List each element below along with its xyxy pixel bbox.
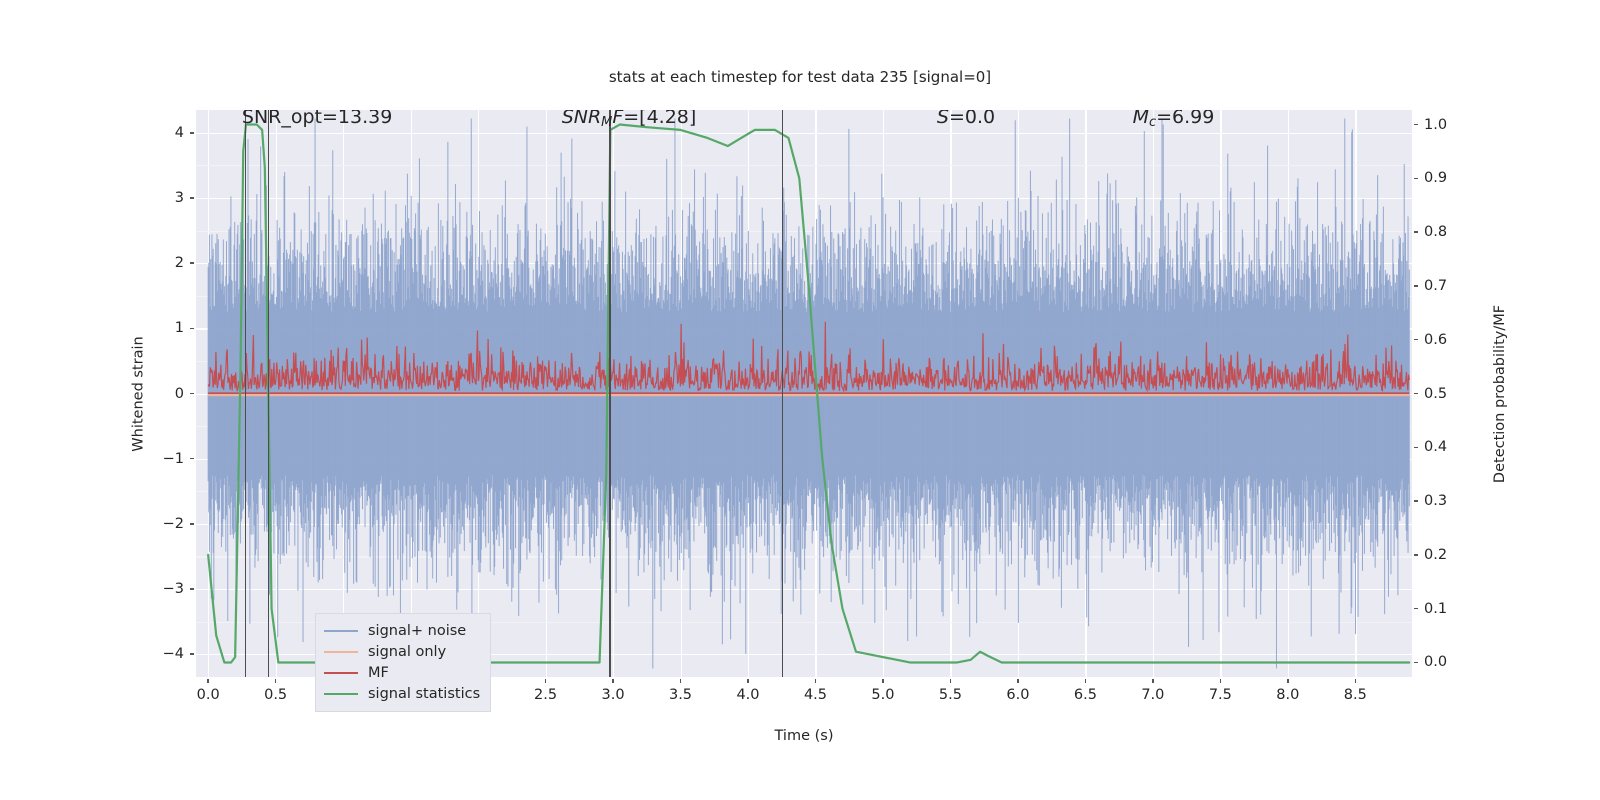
x-axis-tick-label: 4.0: [736, 687, 759, 703]
x-axis-tickmark: [612, 679, 613, 683]
y-axis-left-tick-label: 0: [144, 386, 184, 402]
y-axis-left-tick-label: −3: [144, 581, 184, 597]
y-axis-right-tickmark: [1414, 608, 1418, 609]
x-axis-tickmark: [815, 679, 816, 683]
plot-area: SNR_opt=13.39SNRMF=[4.28]S=0.0Mc=6.99: [196, 110, 1412, 677]
x-axis-tickmark: [1355, 679, 1356, 683]
y-axis-right-tick-label: 0.6: [1424, 332, 1447, 348]
x-axis-tick-label: 8.0: [1276, 687, 1299, 703]
x-axis-tick-label: 8.5: [1344, 687, 1367, 703]
annotation-mc: Mc=6.99: [1133, 110, 1215, 130]
x-axis-tick-label: 6.5: [1074, 687, 1097, 703]
x-axis-title: Time (s): [196, 728, 1412, 744]
x-axis-tickmark: [275, 679, 276, 683]
vertical-marker: [609, 110, 611, 677]
y-axis-right-tickmark: [1414, 500, 1418, 501]
y-axis-right-title: Detection probability/MF: [1490, 110, 1510, 677]
series-layer: [196, 110, 1412, 677]
x-axis-tickmark: [882, 679, 883, 683]
y-axis-right-tick-label: 0.8: [1424, 224, 1447, 240]
y-axis-right-tick-label: 0.7: [1424, 278, 1447, 294]
y-axis-right-tick-label: 0.4: [1424, 439, 1447, 455]
x-axis-tickmark: [207, 679, 208, 683]
x-axis-tickmark: [680, 679, 681, 683]
y-axis-right-tick-label: 0.2: [1424, 547, 1447, 563]
y-axis-left-tick-label: 3: [144, 190, 184, 206]
y-axis-right-tickmark: [1414, 178, 1418, 179]
y-axis-left-tickmark: [190, 197, 194, 198]
legend-label: signal+ noise: [368, 623, 466, 639]
x-axis-tickmark: [545, 679, 546, 683]
y-axis-right-tickmark: [1414, 662, 1418, 663]
y-axis-left-tickmark: [190, 523, 194, 524]
legend-entry[interactable]: signal+ noise: [324, 620, 480, 641]
y-axis-right-tick-label: 0.1: [1424, 601, 1447, 617]
annotation-snr-mf: SNRMF=[4.28]: [562, 110, 697, 130]
x-axis-tickmark: [747, 679, 748, 683]
y-axis-left-tick-label: −2: [144, 516, 184, 532]
annotation-snr-opt: SNR_opt=13.39: [242, 110, 392, 128]
y-axis-right-tickmark: [1414, 393, 1418, 394]
x-axis-tick-label: 4.5: [804, 687, 827, 703]
x-axis-tick-label: 2.5: [534, 687, 557, 703]
figure-canvas: stats at each timestep for test data 235…: [0, 0, 1600, 800]
annotation-s-stat: S=0.0: [937, 110, 995, 128]
legend-label: signal only: [368, 644, 446, 660]
legend-label: MF: [368, 665, 389, 681]
y-axis-right-tick-label: 0.9: [1424, 170, 1447, 186]
x-axis-tickmark: [1287, 679, 1288, 683]
x-axis-tick-label: 0.0: [197, 687, 220, 703]
y-axis-left-tickmark: [190, 262, 194, 263]
legend[interactable]: signal+ noisesignal onlyMFsignal statist…: [315, 613, 491, 712]
x-axis-tickmark: [1152, 679, 1153, 683]
x-axis-tick-label: 6.0: [1006, 687, 1029, 703]
x-axis-tickmark: [1220, 679, 1221, 683]
y-axis-left-tickmark: [190, 132, 194, 133]
vertical-marker: [782, 110, 784, 677]
y-axis-right-tickmark: [1414, 124, 1418, 125]
x-axis-tickmark: [1017, 679, 1018, 683]
legend-swatch-line: [324, 672, 358, 674]
y-axis-right-tick-label: 0.3: [1424, 493, 1447, 509]
y-axis-right-tick-label: 0.5: [1424, 386, 1447, 402]
y-axis-right-tick-label: 0.0: [1424, 654, 1447, 670]
y-axis-right-tickmark: [1414, 447, 1418, 448]
x-axis-tick-label: 7.5: [1209, 687, 1232, 703]
y-axis-left-tickmark: [190, 458, 194, 459]
y-axis-right-tickmark: [1414, 339, 1418, 340]
x-axis-tick-label: 3.5: [669, 687, 692, 703]
plot-title: stats at each timestep for test data 235…: [0, 68, 1600, 86]
legend-label: signal statistics: [368, 686, 480, 702]
y-axis-left-tickmark: [190, 328, 194, 329]
x-axis-tickmark: [1085, 679, 1086, 683]
x-axis-tickmark: [950, 679, 951, 683]
x-axis-tick-label: 5.0: [871, 687, 894, 703]
legend-entry[interactable]: MF: [324, 662, 480, 683]
legend-entry[interactable]: signal only: [324, 641, 480, 662]
y-axis-right-tickmark: [1414, 231, 1418, 232]
y-axis-left-tickmark: [190, 393, 194, 394]
vertical-marker: [245, 110, 247, 677]
x-axis-tick-label: 3.0: [601, 687, 624, 703]
y-axis-right-tickmark: [1414, 285, 1418, 286]
x-axis-tick-label: 0.5: [264, 687, 287, 703]
y-axis-right-tickmark: [1414, 554, 1418, 555]
y-axis-right-title-text: Detection probability/MF: [1492, 304, 1508, 482]
y-axis-left-tick-label: 4: [144, 125, 184, 141]
legend-swatch-line: [324, 651, 358, 653]
y-axis-left-tick-label: 2: [144, 255, 184, 271]
y-axis-right-tick-label: 1.0: [1424, 117, 1447, 133]
y-axis-left-tick-label: 1: [144, 320, 184, 336]
y-axis-left-tick-label: −1: [144, 451, 184, 467]
legend-entry[interactable]: signal statistics: [324, 683, 480, 704]
y-axis-left-tick-label: −4: [144, 646, 184, 662]
x-axis-tick-label: 7.0: [1141, 687, 1164, 703]
x-axis-tick-label: 5.5: [939, 687, 962, 703]
legend-swatch-line: [324, 630, 358, 632]
vertical-marker: [268, 110, 270, 677]
y-axis-left-tickmark: [190, 588, 194, 589]
y-axis-left-tickmark: [190, 653, 194, 654]
legend-swatch-line: [324, 693, 358, 695]
